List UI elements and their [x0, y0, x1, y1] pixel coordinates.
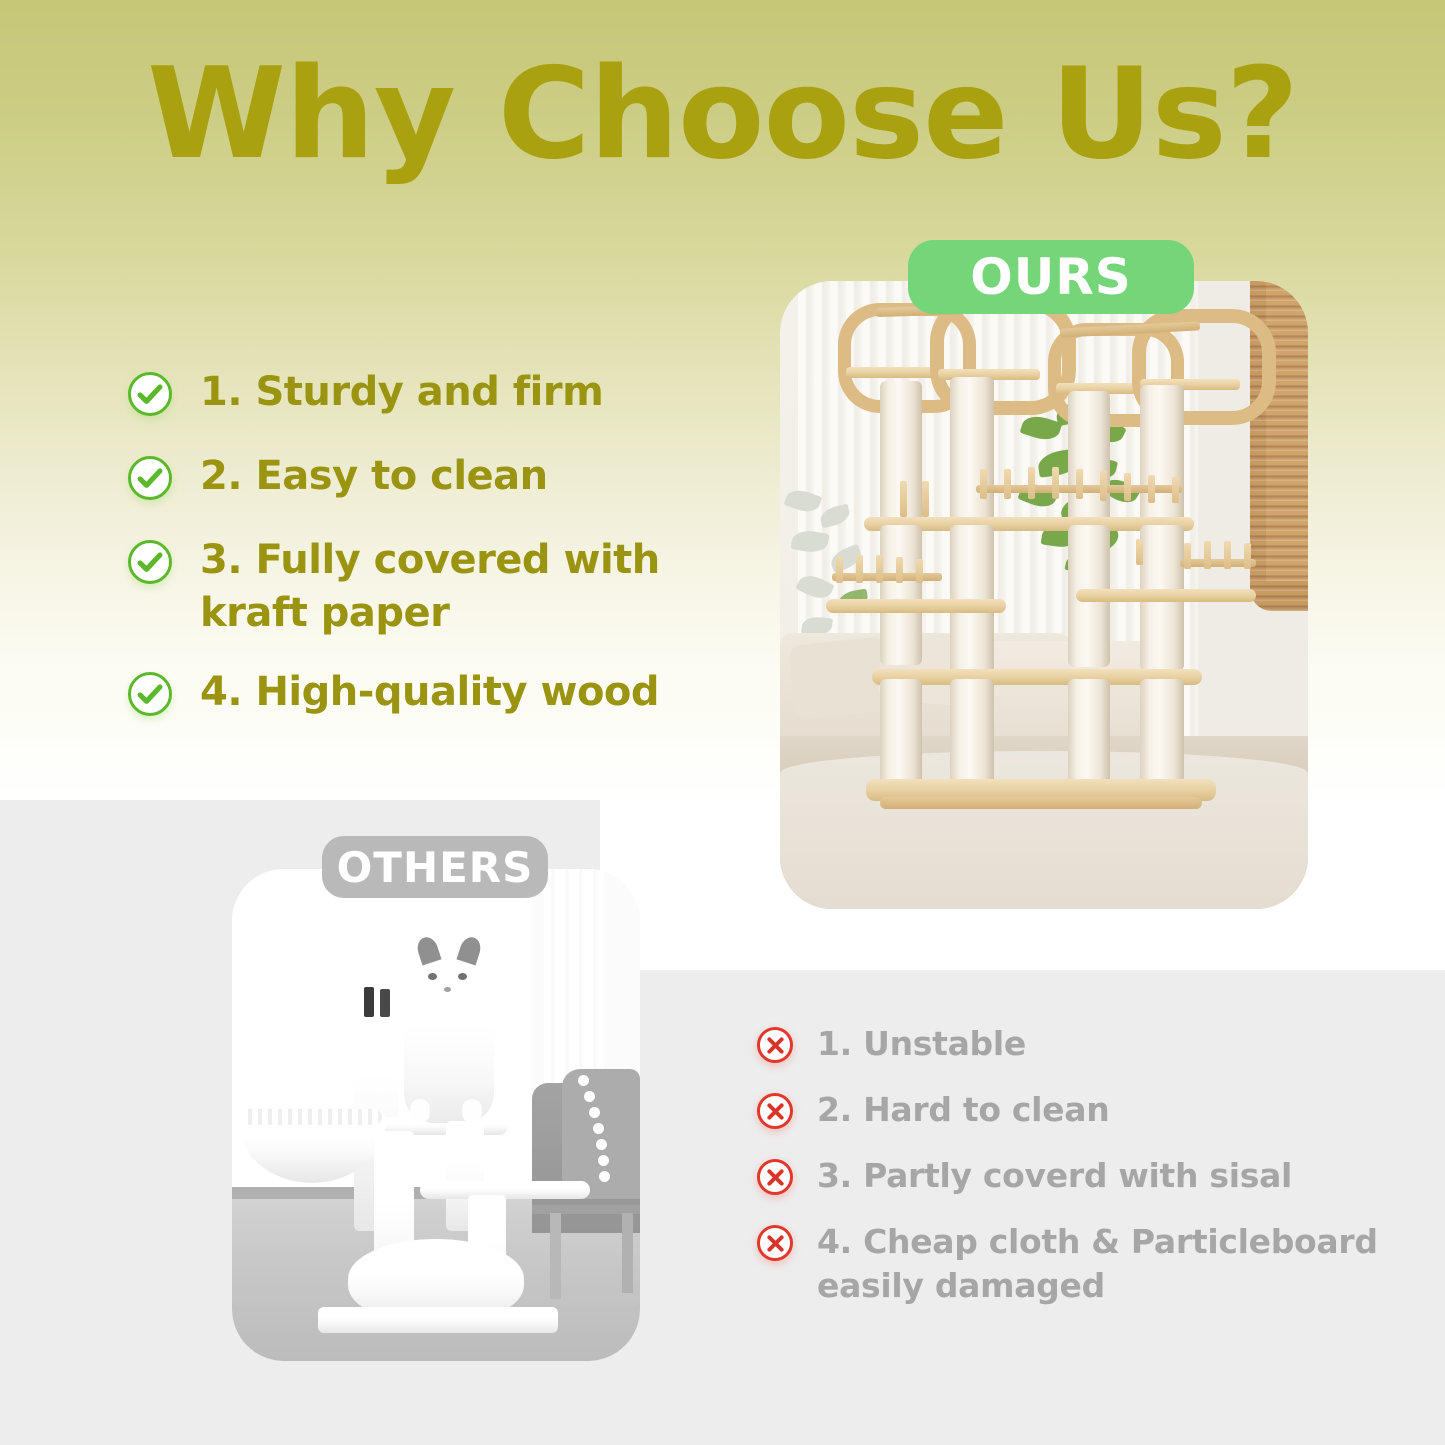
- list-item: 4. High-quality wood: [122, 666, 722, 724]
- sisal-post: [880, 679, 922, 789]
- x-circle-icon: [752, 1023, 798, 1069]
- sisal-post: [1140, 679, 1184, 783]
- sisal-post: [880, 525, 922, 665]
- cons-list: 1. Unstable 2. Hard to clean 3. Partly c…: [752, 1022, 1412, 1308]
- list-item: 3. Fully covered with kraft paper: [122, 534, 722, 640]
- con-label: 2. Hard to clean: [817, 1088, 1109, 1132]
- x-circle-icon: [752, 1221, 798, 1267]
- con-label: 1. Unstable: [817, 1022, 1026, 1066]
- check-circle-icon: [122, 368, 178, 424]
- plant-decor-left: [780, 481, 890, 651]
- check-circle-icon: [122, 536, 178, 592]
- ours-badge: OURS: [908, 240, 1194, 314]
- sisal-post: [950, 679, 994, 795]
- list-item: 2. Easy to clean: [122, 450, 722, 508]
- others-badge: OTHERS: [322, 836, 548, 898]
- pros-list: 1. Sturdy and firm 2. Easy to clean 3. F…: [122, 366, 722, 724]
- check-circle-icon: [122, 452, 178, 508]
- page-title: Why Choose Us?: [0, 48, 1445, 180]
- others-product-photo: [232, 869, 640, 1361]
- list-item: 3. Partly coverd with sisal: [752, 1154, 1412, 1201]
- con-label: 4. Cheap cloth & Particleboard easily da…: [817, 1220, 1412, 1308]
- list-item: 1. Sturdy and firm: [122, 366, 722, 424]
- list-item: 2. Hard to clean: [752, 1088, 1412, 1135]
- list-item: 4. Cheap cloth & Particleboard easily da…: [752, 1220, 1412, 1308]
- pro-label: 4. High-quality wood: [200, 666, 659, 719]
- pro-label: 3. Fully covered with kraft paper: [200, 534, 670, 640]
- ours-product-photo: [780, 281, 1308, 909]
- pro-label: 1. Sturdy and firm: [200, 366, 603, 419]
- x-circle-icon: [752, 1089, 798, 1135]
- con-label: 3. Partly coverd with sisal: [817, 1154, 1292, 1198]
- pro-label: 2. Easy to clean: [200, 450, 548, 503]
- sisal-post: [1068, 679, 1110, 787]
- x-circle-icon: [752, 1155, 798, 1201]
- list-item: 1. Unstable: [752, 1022, 1412, 1069]
- check-circle-icon: [122, 668, 178, 724]
